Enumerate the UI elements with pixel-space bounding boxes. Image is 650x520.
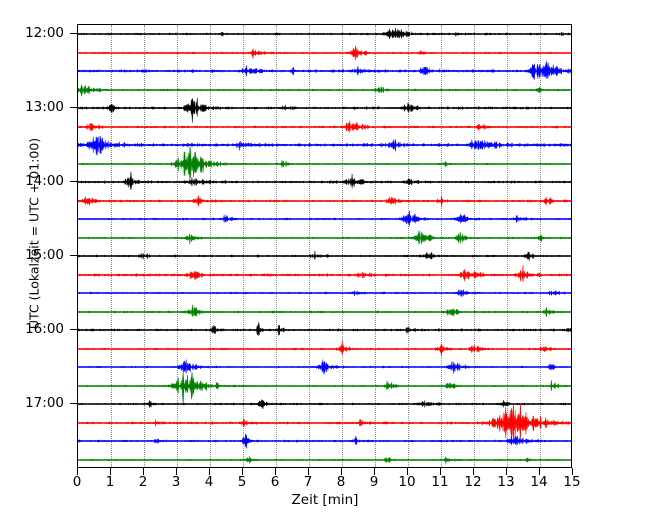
y-tick-label: 17:00 (25, 395, 64, 411)
y-tick-label: 13:00 (25, 99, 64, 115)
x-tick-label: 10 (398, 474, 415, 490)
x-tick-label: 7 (304, 474, 313, 490)
x-tick-label: 6 (271, 474, 280, 490)
y-tick-13-00 (70, 107, 78, 108)
x-tick-label: 13 (497, 474, 514, 490)
x-tick-label: 12 (464, 474, 481, 490)
x-tick-label: 4 (205, 474, 214, 490)
x-tick-label: 5 (238, 474, 247, 490)
x-tick-label: 14 (530, 474, 547, 490)
x-tick-label: 3 (172, 474, 181, 490)
y-tick-15-00 (70, 255, 78, 256)
y-tick-label: 16:00 (25, 321, 64, 337)
x-tick-label: 9 (370, 474, 379, 490)
y-tick-label: 15:00 (25, 247, 64, 263)
x-tick-label: 15 (563, 474, 580, 490)
y-tick-17-00 (70, 403, 78, 404)
x-tick-label: 11 (431, 474, 448, 490)
seismogram-figure: UTC (Lokalzeit = UTC + 01:00) Zeit [min]… (0, 0, 650, 520)
x-axis-label: Zeit [min] (77, 492, 573, 508)
x-tick-label: 1 (106, 474, 115, 490)
y-tick-12-00 (70, 33, 78, 34)
x-tick-label: 2 (139, 474, 148, 490)
seismic-trace (78, 440, 572, 468)
x-tick-label: 0 (73, 474, 82, 490)
y-tick-label: 12:00 (25, 25, 64, 41)
y-tick-14-00 (70, 181, 78, 182)
y-tick-16-00 (70, 329, 78, 330)
y-tick-label: 14:00 (25, 173, 64, 189)
plot-area (77, 24, 572, 468)
x-tick-label: 8 (337, 474, 346, 490)
trace-container (78, 25, 571, 467)
